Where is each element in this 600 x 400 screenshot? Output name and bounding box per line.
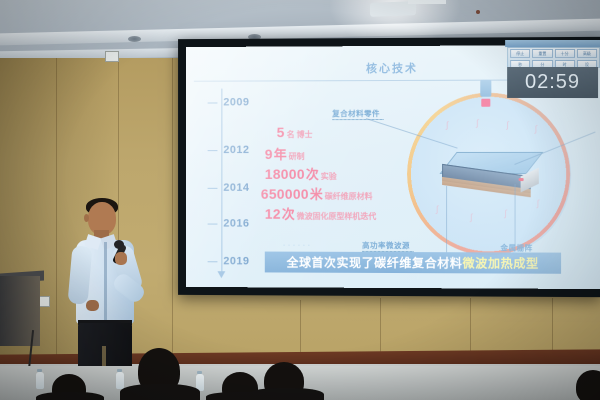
- timer-tenmin-button[interactable]: 十分: [554, 49, 574, 58]
- timeline-item: 2019: [208, 255, 250, 267]
- wall-outlet: [105, 51, 119, 62]
- stat-label: 实验: [321, 171, 337, 182]
- timeline-item: 2012: [208, 144, 250, 156]
- timeline-item: 2016: [208, 218, 250, 230]
- stat-label: 微波固化原型样机迭代: [297, 211, 377, 222]
- timeline-tick: [208, 223, 218, 224]
- diagram-label-microwave-source: 高功率微波源: [362, 240, 410, 251]
- diagram-label-underline: [332, 119, 384, 120]
- microwave-squiggle: ∫: [506, 120, 508, 130]
- antenna-emitter-dot: [481, 99, 490, 107]
- timer-advanced-button[interactable]: 高级: [577, 49, 597, 58]
- water-bottle: [36, 372, 44, 389]
- microwave-antenna: [480, 80, 491, 97]
- countdown-timer-widget[interactable]: 停止 重置 十分 高级 秒 分 时 设 02:59: [505, 40, 600, 100]
- statistics-list: 5 名 博士 9 年 研制 18000 次 实验 650000 米 碳纤: [277, 124, 377, 250]
- microwave-squiggle: ∫: [470, 212, 472, 222]
- podium: [0, 276, 40, 346]
- stat-number: 18000: [265, 166, 305, 182]
- water-bottle: [116, 372, 124, 389]
- bottle-cap: [37, 369, 42, 372]
- stat-row: 650000 米 碳纤维原材料: [261, 184, 376, 204]
- leader-line: [446, 186, 447, 252]
- microwave-squiggle: ∫: [446, 120, 448, 130]
- stat-row: 12 次 微波固化原型样机迭代: [265, 204, 376, 224]
- photo-scene: 核心技术 2009 2012 2014 2016: [0, 0, 600, 400]
- presenter-right-hand: [115, 252, 127, 265]
- microwave-squiggle: ∫: [504, 208, 506, 218]
- timer-stop-button[interactable]: 停止: [510, 49, 530, 58]
- stat-label: 碳纤维原材料: [325, 191, 373, 202]
- stat-row: 5 名 博士: [277, 124, 377, 144]
- timeline-item: 2009: [208, 96, 250, 108]
- stat-row: 18000 次 实验: [265, 164, 376, 184]
- timeline-tick: [208, 150, 218, 151]
- audience-head: [576, 370, 600, 400]
- timeline-arrow-icon: [217, 271, 225, 278]
- timeline-year: 2019: [223, 255, 249, 267]
- stat-number: 12: [265, 206, 281, 222]
- timeline-year: 2014: [223, 182, 249, 194]
- stat-number: 650000: [261, 186, 309, 202]
- timer-value: 02:59: [525, 71, 580, 94]
- sprinkler-head: [476, 10, 480, 14]
- stat-unit: 年: [274, 144, 287, 163]
- presenter-left-hand: [86, 300, 99, 311]
- achievement-banner: 全球首次实现了碳纤维复合材料微波加热成型: [265, 252, 561, 274]
- wall-panel-seam: [300, 300, 301, 358]
- timeline-year: 2012: [223, 144, 249, 156]
- stat-unit: 次: [306, 164, 319, 183]
- microwave-squiggle: ∫: [535, 124, 537, 134]
- timeline-axis: [221, 89, 222, 274]
- timeline-tick: [208, 261, 218, 262]
- stat-number: 9: [265, 146, 273, 162]
- audience-shoulders: [120, 384, 200, 400]
- timer-display: 02:59: [507, 67, 598, 98]
- wall-panel-seam: [56, 58, 57, 358]
- wall-panel-seam: [380, 298, 381, 358]
- timer-button-row-1[interactable]: 停止 重置 十分 高级: [508, 48, 599, 59]
- ceiling-downlight: [128, 36, 141, 42]
- leader-line: [515, 184, 516, 250]
- timer-reset-button[interactable]: 重置: [532, 49, 552, 58]
- banner-text-highlight: 微波加热成型: [463, 254, 539, 271]
- bottle-cap: [117, 369, 122, 372]
- timeline-year: 2016: [223, 218, 249, 230]
- presenter-ear: [84, 214, 89, 222]
- banner-text-main: 全球首次实现了碳纤维复合材料: [287, 254, 463, 272]
- audience-shoulders: [36, 392, 104, 400]
- wall-panel-seam: [470, 298, 471, 358]
- audience-shoulders: [248, 388, 324, 400]
- composite-panel-3d: [442, 146, 543, 208]
- shirt-placket: [104, 242, 107, 322]
- panel-indicator-dot: [519, 178, 524, 181]
- timer-controls[interactable]: 停止 重置 十分 高级 秒 分 时 设: [507, 47, 600, 68]
- stat-row: 9 年 研制: [265, 144, 376, 164]
- stat-label: 研制: [289, 151, 305, 162]
- stat-unit: 名: [287, 129, 295, 140]
- stat-unit: 次: [282, 204, 295, 223]
- timeline-year: 2009: [223, 96, 249, 108]
- microwave-squiggle: ∫: [476, 118, 478, 128]
- microphone-head: [114, 240, 124, 249]
- stat-label: 博士: [297, 129, 313, 140]
- timeline-item: 2014: [208, 182, 250, 194]
- timeline-tick: [208, 102, 218, 103]
- wall-panel-seam: [172, 58, 173, 358]
- stat-number: 5: [277, 124, 285, 140]
- microwave-squiggle: ∫: [436, 204, 438, 214]
- bottle-cap: [197, 371, 202, 374]
- timeline-tick: [208, 187, 218, 188]
- stat-unit: 米: [310, 184, 323, 203]
- projector-mount-arm: [408, 0, 446, 4]
- diagram-label-composite-part: 复合材料零件: [332, 108, 380, 119]
